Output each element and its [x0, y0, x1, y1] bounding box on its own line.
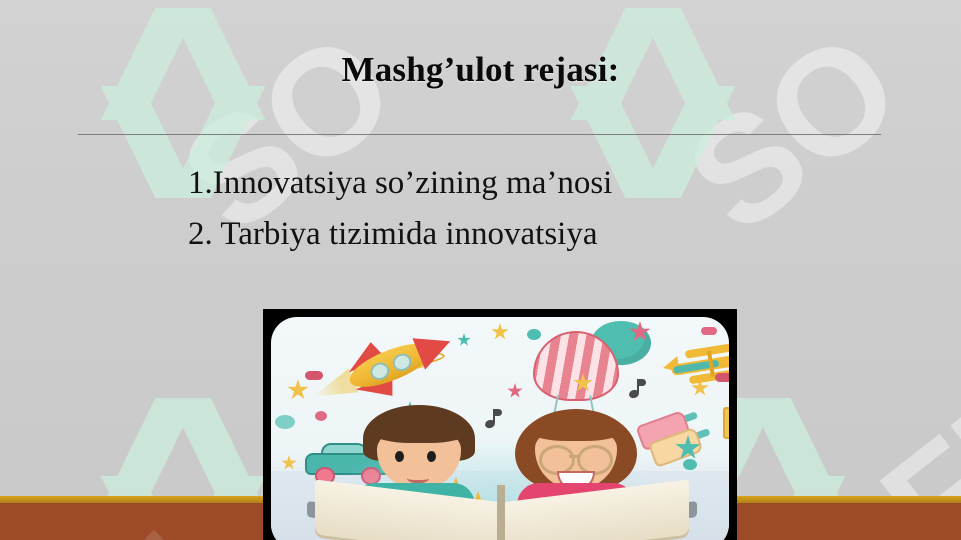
title-divider — [78, 134, 881, 135]
gift-box-icon — [723, 407, 729, 439]
slide-body: 1.Innovatsiya so’zining ma’nosi 2. Tarbi… — [188, 158, 828, 260]
confetti-dot — [305, 371, 323, 380]
music-note-icon — [485, 409, 503, 429]
illustration — [271, 317, 729, 540]
slide-image — [263, 309, 737, 540]
slide-title: Mashg’ulot rejasi: — [0, 50, 961, 90]
footer-chevron-icon — [109, 530, 200, 540]
confetti-dot — [701, 327, 717, 335]
open-book — [315, 485, 687, 540]
confetti-dot — [315, 411, 327, 421]
confetti-dot — [715, 373, 729, 382]
music-note-icon — [629, 379, 647, 399]
agenda-item-2: 2. Tarbiya tizimida innovatsiya — [188, 209, 828, 260]
agenda-item-1: 1.Innovatsiya so’zining ma’nosi — [188, 158, 828, 209]
confetti-dot — [683, 459, 697, 470]
confetti-dot — [275, 415, 295, 429]
confetti-dot — [527, 329, 541, 340]
slide-canvas: SO SO OFF OFF Mashg’ulot rejasi: 1.Innov… — [0, 0, 961, 540]
